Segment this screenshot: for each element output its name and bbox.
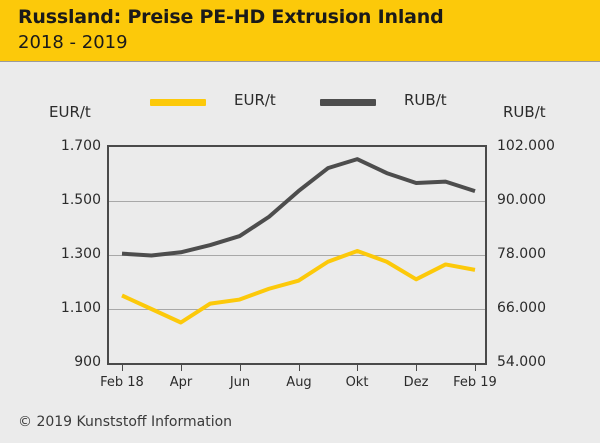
legend-label-eur: EUR/t	[234, 91, 276, 109]
series-line-eur-t	[122, 251, 475, 323]
x-axis-tick-mark	[357, 365, 358, 371]
chart-legend: EUR/t RUB/t	[150, 94, 480, 114]
legend-swatch-rub	[320, 99, 376, 106]
x-axis-tick-label-5: Dez	[386, 375, 446, 390]
chart-series-canvas	[109, 147, 485, 363]
y-axis-right-tick-0: 54.000	[497, 354, 546, 370]
x-axis-tick-label-0: Feb 18	[92, 375, 152, 390]
x-axis-tick-label-3: Aug	[269, 375, 329, 390]
page-subtitle: 2018 - 2019	[18, 32, 128, 53]
x-axis-tick-label-2: Jun	[210, 375, 270, 390]
x-axis-tick-label-6: Feb 19	[445, 375, 505, 390]
x-axis-tick-mark	[240, 365, 241, 371]
series-line-rub-t	[122, 159, 475, 255]
y-axis-left-tick-4: 1.700	[35, 138, 101, 154]
y-axis-left-tick-3: 1.500	[35, 192, 101, 208]
x-axis-tick-label-4: Okt	[327, 375, 387, 390]
x-axis-tick-mark	[475, 365, 476, 371]
copyright-text: © 2019 Kunststoff Information	[18, 414, 232, 430]
x-axis-tick-mark	[181, 365, 182, 371]
y-axis-right-tick-4: 102.000	[497, 138, 555, 154]
page-title: Russland: Preise PE-HD Extrusion Inland	[18, 6, 444, 28]
y-axis-right-tick-2: 78.000	[497, 246, 546, 262]
y-axis-left-tick-0: 900	[35, 354, 101, 370]
y-axis-right-tick-1: 66.000	[497, 300, 546, 316]
x-axis-tick-mark	[416, 365, 417, 371]
right-axis-caption: RUB/t	[503, 103, 546, 121]
header-banner: Russland: Preise PE-HD Extrusion Inland …	[0, 0, 600, 62]
legend-swatch-eur	[150, 99, 206, 106]
chart-plot-area	[107, 145, 487, 365]
left-axis-caption: EUR/t	[49, 103, 91, 121]
y-axis-left-tick-1: 1.100	[35, 300, 101, 316]
y-axis-left-tick-2: 1.300	[35, 246, 101, 262]
x-axis-tick-label-1: Apr	[151, 375, 211, 390]
x-axis-tick-mark	[122, 365, 123, 371]
legend-label-rub: RUB/t	[404, 91, 447, 109]
x-axis-tick-mark	[299, 365, 300, 371]
y-axis-right-tick-3: 90.000	[497, 192, 546, 208]
